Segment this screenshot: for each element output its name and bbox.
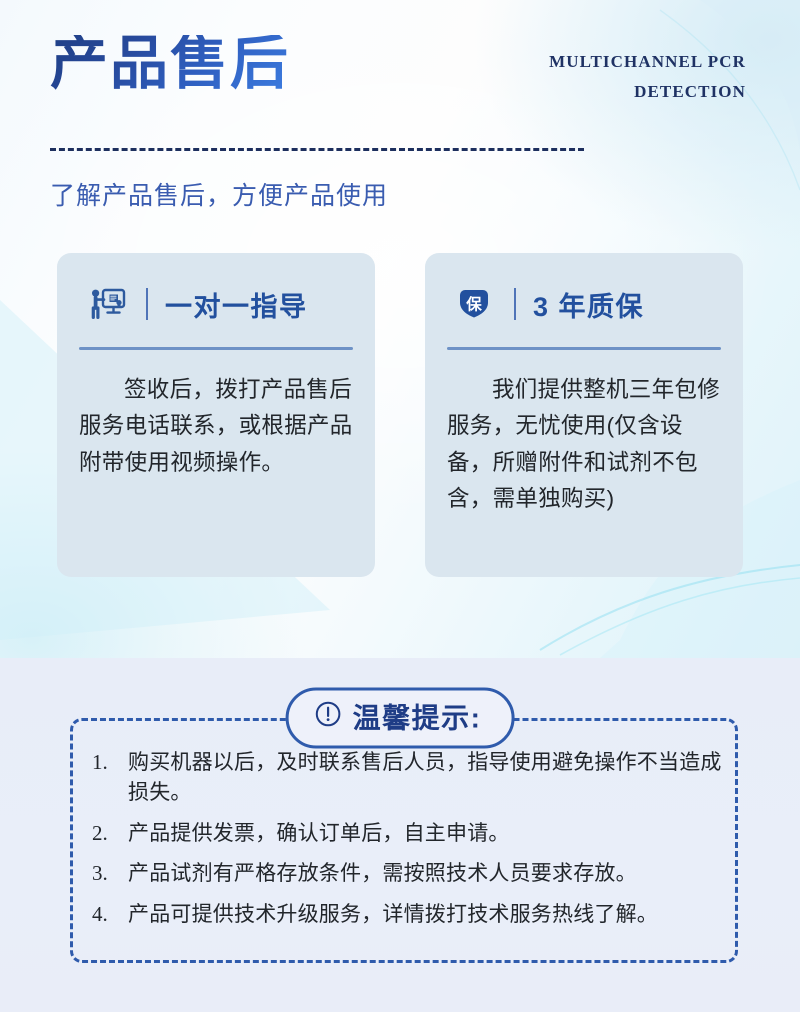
service-card-guidance: 一对一指导 签收后，拨打产品售后服务电话联系，或根据产品附带使用视频操作。: [57, 253, 375, 577]
card-body-text: 签收后，拨打产品售后服务电话联系，或根据产品附带使用视频操作。: [79, 372, 353, 481]
tips-list: 1. 购买机器以后，及时联系售后人员，指导使用避免操作不当造成损失。 2. 产品…: [92, 748, 722, 941]
tips-item-number: 4.: [92, 900, 128, 930]
tips-list-item: 4. 产品可提供技术升级服务，详情拨打技术服务热线了解。: [92, 900, 722, 930]
page-header: 产品售后 MULTICHANNEL PCR DETECTION 了解产品售后，方…: [0, 0, 800, 230]
service-card-warranty: 保 3 年质保 我们提供整机三年包修服务，无忧使用(仅含设备，所赠附件和试剂不包…: [425, 253, 743, 577]
tips-badge-label: 温馨提示:: [353, 697, 482, 737]
card-header: 一对一指导: [79, 279, 353, 329]
card-title: 3 年质保: [533, 285, 644, 324]
presenter-board-icon: [85, 283, 127, 325]
tips-badge: 温馨提示:: [286, 688, 515, 749]
tips-item-text: 产品可提供技术升级服务，详情拨打技术服务热线了解。: [128, 900, 658, 930]
page-subtitle: 了解产品售后，方便产品使用: [50, 176, 388, 212]
tips-item-number: 2.: [92, 819, 128, 849]
warranty-shield-glyph: 保: [465, 295, 482, 314]
card-divider: [447, 347, 721, 350]
tips-item-text: 产品试剂有严格存放条件，需按照技术人员要求存放。: [128, 859, 637, 889]
page-title: 产品售后: [50, 35, 290, 93]
service-card-list: 一对一指导 签收后，拨打产品售后服务电话联系，或根据产品附带使用视频操作。 保 …: [57, 253, 743, 577]
header-dashed-divider: [50, 148, 584, 151]
card-divider: [79, 347, 353, 350]
card-header-separator: [146, 288, 148, 320]
english-subtitle-line1: MULTICHANNEL PCR: [426, 47, 746, 77]
card-header-separator: [514, 288, 516, 320]
card-title: 一对一指导: [165, 285, 308, 324]
warranty-shield-icon: 保: [453, 283, 495, 325]
english-subtitle: MULTICHANNEL PCR DETECTION: [426, 47, 746, 107]
card-body-text: 我们提供整机三年包修服务，无忧使用(仅含设备，所赠附件和试剂不包含，需单独购买): [447, 372, 721, 518]
tips-item-number: 1.: [92, 748, 128, 778]
page-root: 产品售后 MULTICHANNEL PCR DETECTION 了解产品售后，方…: [0, 0, 800, 1012]
exclamation-circle-icon: [315, 701, 342, 733]
tips-list-item: 2. 产品提供发票，确认订单后，自主申请。: [92, 819, 722, 849]
card-header: 保 3 年质保: [447, 279, 721, 329]
tips-item-number: 3.: [92, 859, 128, 889]
tips-list-item: 3. 产品试剂有严格存放条件，需按照技术人员要求存放。: [92, 859, 722, 889]
tips-list-item: 1. 购买机器以后，及时联系售后人员，指导使用避免操作不当造成损失。: [92, 748, 722, 808]
english-subtitle-line2: DETECTION: [426, 77, 746, 107]
tips-item-text: 产品提供发票，确认订单后，自主申请。: [128, 819, 510, 849]
tips-item-text: 购买机器以后，及时联系售后人员，指导使用避免操作不当造成损失。: [128, 748, 722, 808]
